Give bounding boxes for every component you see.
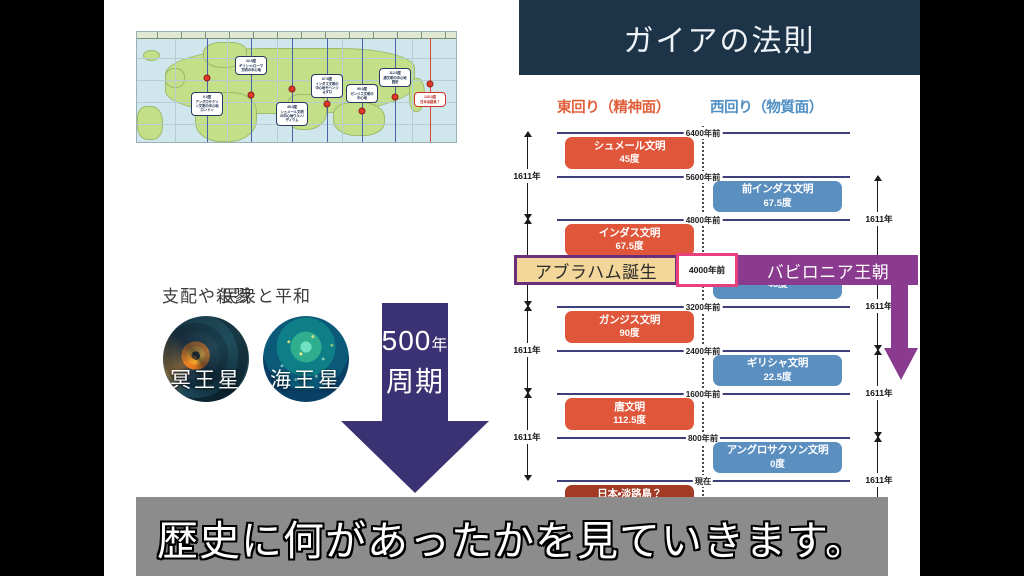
highlight-year-label: 4000年前 [689,264,725,276]
timeline-span-label-left: 1611年 [511,343,542,357]
map-gridline [227,32,228,142]
map-marker-tang[interactable] [392,94,399,101]
annotation-abraham: アブラハム誕生 [514,255,678,285]
map-longitude-ruler [137,32,456,39]
babylon-down-arrow [884,270,920,390]
civilization-degree: 0度 [770,459,785,470]
map-marker-indus[interactable] [324,101,331,108]
map-callout-text: 唐文明の中心地西安 [383,76,406,84]
timeline-divider [705,480,850,482]
timeline-divider [557,219,702,221]
map-meridian-line [251,38,252,142]
map-callout-greece: 22.5度ギリシャ・ローマ文明の中心地 [235,56,267,75]
civilization-timeline: 東回り（精神面） 西回り（物質面） 6400年前5600年前4800年前4000… [505,96,920,516]
map-callout-text: アングロサクソン文明の中心地ロンドン [195,100,218,113]
civilization-degree: 67.5度 [764,198,792,209]
civilization-degree: 112.5度 [613,415,646,426]
neptune-image: 海王星 [263,316,349,402]
timeline-divider [557,480,702,482]
pluto-label: 冥王星 [163,364,249,394]
map-landmass-north-america [137,106,163,140]
annotation-abraham-label: アブラハム誕生 [535,258,657,283]
timeline-header-west: 西回り（物質面） [710,96,823,117]
timeline-divider [705,437,850,439]
timeline-divider [705,350,850,352]
map-callout-japan: 135.0度日本淡路島？ [414,92,446,107]
map-callout-london: 0.0度アングロサクソン文明の中心地ロンドン [191,92,223,116]
map-callout-text: シュメール文明の中心地ウル・リディウム [280,110,304,123]
cycle-unit: 年 [431,337,448,354]
map-callout-ganges: 90.0度ガンジス文明の中心地 [346,84,378,103]
civilization-box-east: インダス文明67.5度 [565,224,694,256]
timeline-span-label-left: 1611年 [511,169,542,183]
civilization-degree: 67.5度 [616,241,644,252]
civilization-box-east: ガンジス文明90度 [565,311,694,343]
map-marker-greece[interactable] [248,92,255,99]
cycle-word: 周期 [386,366,444,397]
map-callout-text: インダス文明の中心地モヘンジョダロ [315,82,338,95]
map-callout-indus: 67.5度インダス文明の中心地モヘンジョダロ [311,74,343,98]
civilization-box-west: ギリシャ文明22.5度 [713,355,842,387]
timeline-span-label-right: 1611年 [863,212,894,226]
page-title: ガイアの法則 [624,16,816,60]
slide-canvas: ガイアの法則 0.0度アングロサクソン文明の中心地ロンドン [0,0,1024,576]
civilization-name: インダス文明 [599,227,660,240]
timeline-span-label-right: 1611年 [863,473,894,487]
civilization-name: アングロサクソン文明 [727,444,829,457]
civilization-name: ガンジス文明 [599,314,660,327]
civilization-box-east: 唐文明112.5度 [565,398,694,430]
map-callout-text: ガンジス文明の中心地 [350,92,373,100]
timeline-year-marker: 現在 [693,475,713,487]
cycle-number: 500 [382,325,432,356]
map-marker-ganges[interactable] [359,108,366,115]
civilization-name: 唐文明 [614,401,645,414]
subtitle-text: 歴史に何があったかを見ていきます。 [157,507,867,567]
timeline-divider [705,176,850,178]
map-landmass-southeast-asia [333,102,385,136]
timeline-header-east: 東回り（精神面） [557,96,670,117]
timeline-divider [705,306,850,308]
timeline-divider [705,219,850,221]
map-marker-sumer[interactable] [289,86,296,93]
timeline-divider [557,393,702,395]
map-callout-text: 日本淡路島？ [420,100,440,104]
map-landmass-iceland [143,50,160,61]
civilization-degree: 45度 [619,154,639,165]
annotation-babylon-label: バビロニア王朝 [767,258,890,283]
timeline-divider [557,132,702,134]
map-marker-japan[interactable] [427,81,434,88]
timeline-divider [705,132,850,134]
timeline-divider [557,176,702,178]
timeline-divider [557,350,702,352]
neptune-label: 海王星 [263,364,349,394]
subtitle-bar: 歴史に何があったかを見ていきます。 [136,497,888,576]
civilization-degree: 90度 [619,328,639,339]
civilization-box-west: アングロサクソン文明0度 [713,442,842,474]
world-map: 0.0度アングロサクソン文明の中心地ロンドン22.5度ギリシャ・ローマ文明の中心… [136,31,457,143]
map-callout-tang: 112.5度唐文明の中心地西安 [379,68,411,87]
civilization-degree: 22.5度 [764,372,792,383]
timeline-divider [705,393,850,395]
civilization-name: 前インダス文明 [742,183,813,196]
timeline-span-label-left: 1611年 [511,430,542,444]
cycle-arrow-head [341,421,489,493]
pluto-image: 冥王星 [163,316,249,402]
timeline-divider [557,306,702,308]
map-meridian-line [430,38,431,142]
timeline-center-axis [702,126,704,516]
map-marker-london[interactable] [204,75,211,82]
neptune-caption: 民衆と平和 [196,282,336,307]
civilization-box-west: 前インダス文明67.5度 [713,181,842,213]
timeline-year-marker: 800年前 [686,432,720,444]
map-callout-sumer: 45.0度シュメール文明の中心地ウル・リディウム [276,102,308,126]
title-banner: ガイアの法則 [519,0,920,75]
civilization-name: ギリシャ文明 [747,357,808,370]
map-meridian-line [395,38,396,142]
map-meridian-line [207,38,208,142]
map-callout-text: ギリシャ・ローマ文明の中心地 [239,64,263,72]
civilization-box-east: シュメール文明45度 [565,137,694,169]
map-gridline [175,32,176,142]
timeline-divider [557,437,702,439]
map-gridline [412,32,413,142]
cycle-arrow: 500年 周期 [341,303,489,493]
map-gridline [137,58,456,59]
cycle-arrow-label: 500年 周期 [341,321,489,402]
civilization-name: シュメール文明 [594,140,665,153]
